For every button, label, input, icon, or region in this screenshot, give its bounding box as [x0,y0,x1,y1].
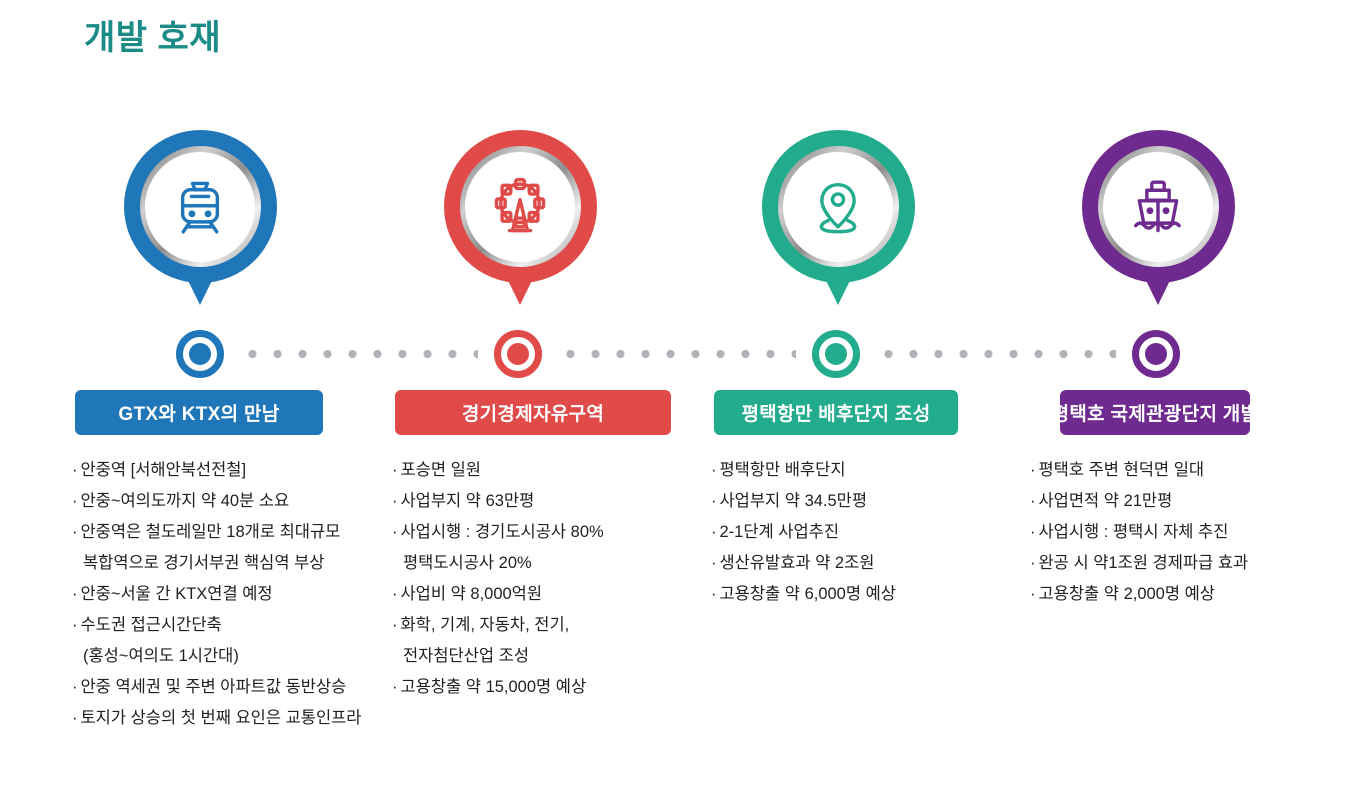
node-gtx-ktx[interactable] [176,330,224,378]
detail-list-gtx-ktx: ·안중역 [서해안북선전철]·안중~여의도까지 약 40분 소요·안중역은 철도… [72,455,402,734]
list-item: 복합역으로 경기서부권 핵심역 부상 [72,548,402,579]
bullet-dot-icon: · [392,616,398,634]
list-item-text: 평택호 주변 현덕면 일대 [1039,461,1205,479]
bullet-dot-icon: · [1030,585,1036,603]
list-item-text: 포승면 일원 [401,461,481,479]
detail-list-pyeongtaek-port: ·평택항만 배후단지·사업부지 약 34.5만평·2-1단계 사업추진·생산유발… [711,455,1041,610]
node-pyeongtaek-lake-dot [1145,343,1167,365]
list-item-text: 안중~여의도까지 약 40분 소요 [81,492,290,510]
list-item: ·고용창출 약 6,000명 예상 [711,579,1041,610]
list-item-text: 안중~서울 간 KTX연결 예정 [81,585,273,603]
bullet-dot-icon: · [711,554,717,572]
pin-circle-pyeongtaek-lake [1082,130,1235,283]
list-item-text: 수도권 접근시간단축 [81,616,222,634]
list-item: ·안중~여의도까지 약 40분 소요 [72,486,402,517]
list-item: ·수도권 접근시간단축 [72,610,402,641]
node-pyeongtaek-port[interactable] [812,330,860,378]
list-item-text: 토지가 상승의 첫 번째 요인은 교통인프라 [81,709,362,727]
pin-inner-gtx-ktx [145,152,255,262]
list-item: ·사업시행 : 평택시 자체 추진 [1030,517,1359,548]
bullet-dot-icon: · [72,678,78,696]
list-item: 전자첨단산업 조성 [392,641,722,672]
list-item: ·화학, 기계, 자동차, 전기, [392,610,722,641]
node-gtx-ktx-dot [189,343,211,365]
bullet-dot-icon: · [72,492,78,510]
bullet-dot-icon: · [1030,554,1036,572]
timeline-dotted-connector-0 [240,350,478,358]
map-pin-icon [807,176,869,238]
list-item-text: 화학, 기계, 자동차, 전기, [401,616,570,634]
ship-icon [1127,176,1189,238]
node-gyeonggi-fez[interactable] [494,330,542,378]
bullet-dot-icon: · [72,523,78,541]
category-label-pyeongtaek-port[interactable]: 평택항만 배후단지 조성 [714,390,958,435]
list-item-text: 복합역으로 경기서부권 핵심역 부상 [83,554,324,572]
list-item-text: 완공 시 약1조원 경제파급 효과 [1039,554,1249,572]
list-item: ·토지가 상승의 첫 번째 요인은 교통인프라 [72,703,402,734]
bullet-dot-icon: · [711,461,717,479]
category-label-gyeonggi-fez[interactable]: 경기경제자유구역 [395,390,671,435]
list-item: ·고용창출 약 2,000명 예상 [1030,579,1359,610]
list-item-text: 사업부지 약 34.5만평 [720,492,868,510]
list-item-text: 평택도시공사 20% [403,554,532,572]
list-item-text: 생산유발효과 약 2조원 [720,554,875,572]
infographic-page: 개발 호재 GTX와 KTX의 만남경기경제자유구역평택항만 배후단지 조성평택… [0,0,1359,812]
list-item: ·평택호 주변 현덕면 일대 [1030,455,1359,486]
list-item-text: 2-1단계 사업추진 [720,523,840,541]
list-item: ·사업비 약 8,000억원 [392,579,722,610]
ferris-wheel-icon [489,176,551,238]
list-item: ·포승면 일원 [392,455,722,486]
list-item: (홍성~여의도 1시간대) [72,641,402,672]
node-pyeongtaek-lake[interactable] [1132,330,1180,378]
category-label-pyeongtaek-lake[interactable]: 평택호 국제관광단지 개발 [1060,390,1250,435]
detail-list-gyeonggi-fez: ·포승면 일원·사업부지 약 63만평·사업시행 : 경기도시공사 80%평택도… [392,455,722,703]
list-item: ·생산유발효과 약 2조원 [711,548,1041,579]
list-item: ·사업면적 약 21만평 [1030,486,1359,517]
list-item: ·안중~서울 간 KTX연결 예정 [72,579,402,610]
page-title: 개발 호재 [84,18,221,59]
list-item-text: 고용창출 약 15,000명 예상 [401,678,587,696]
list-item-text: 사업시행 : 경기도시공사 80% [401,523,604,541]
list-item-text: 안중역 [서해안북선전철] [81,461,247,479]
bullet-dot-icon: · [392,678,398,696]
list-item: ·평택항만 배후단지 [711,455,1041,486]
bullet-dot-icon: · [72,616,78,634]
list-item-text: 안중 역세권 및 주변 아파트값 동반상승 [81,678,347,696]
list-item: ·완공 시 약1조원 경제파급 효과 [1030,548,1359,579]
bullet-dot-icon: · [72,585,78,603]
bullet-dot-icon: · [711,523,717,541]
bullet-dot-icon: · [392,523,398,541]
pin-circle-pyeongtaek-port [762,130,915,283]
list-item: ·사업부지 약 63만평 [392,486,722,517]
bullet-dot-icon: · [1030,492,1036,510]
detail-list-pyeongtaek-lake: ·평택호 주변 현덕면 일대·사업면적 약 21만평·사업시행 : 평택시 자체… [1030,455,1359,610]
bullet-dot-icon: · [392,461,398,479]
list-item: ·사업시행 : 경기도시공사 80% [392,517,722,548]
list-item-text: 평택항만 배후단지 [720,461,846,479]
bullet-dot-icon: · [711,492,717,510]
list-item-text: 고용창출 약 6,000명 예상 [720,585,896,603]
pin-inner-gyeonggi-fez [465,152,575,262]
list-item: ·사업부지 약 34.5만평 [711,486,1041,517]
list-item-text: 안중역은 철도레일만 18개로 최대규모 [81,523,341,541]
pin-wrap-pyeongtaek-port [678,130,998,310]
node-gyeonggi-fez-dot [507,343,529,365]
bullet-dot-icon: · [392,585,398,603]
list-item-text: 사업부지 약 63만평 [401,492,535,510]
timeline [0,330,1359,378]
list-item-text: 사업면적 약 21만평 [1039,492,1173,510]
category-label-gtx-ktx[interactable]: GTX와 KTX의 만남 [75,390,323,435]
train-icon [169,176,231,238]
list-item: ·고용창출 약 15,000명 예상 [392,672,722,703]
bullet-dot-icon: · [72,709,78,727]
list-item: 평택도시공사 20% [392,548,722,579]
list-item-text: (홍성~여의도 1시간대) [83,647,239,665]
pin-wrap-gyeonggi-fez [360,130,680,310]
bullet-dot-icon: · [1030,461,1036,479]
list-item-text: 사업시행 : 평택시 자체 추진 [1039,523,1229,541]
pin-circle-gtx-ktx [124,130,277,283]
list-item-text: 전자첨단산업 조성 [403,647,529,665]
node-pyeongtaek-port-dot [825,343,847,365]
bullet-dot-icon: · [711,585,717,603]
pin-wrap-gtx-ktx [40,130,360,310]
list-item: ·안중역 [서해안북선전철] [72,455,402,486]
timeline-dotted-connector-2 [876,350,1116,358]
list-item: ·2-1단계 사업추진 [711,517,1041,548]
bullet-dot-icon: · [1030,523,1036,541]
list-item: ·안중 역세권 및 주변 아파트값 동반상승 [72,672,402,703]
pin-wrap-pyeongtaek-lake [998,130,1318,310]
pin-circle-gyeonggi-fez [444,130,597,283]
pin-inner-pyeongtaek-lake [1103,152,1213,262]
list-item: ·안중역은 철도레일만 18개로 최대규모 [72,517,402,548]
list-item-text: 고용창출 약 2,000명 예상 [1039,585,1215,603]
timeline-dotted-connector-1 [558,350,796,358]
list-item-text: 사업비 약 8,000억원 [401,585,543,603]
bullet-dot-icon: · [72,461,78,479]
bullet-dot-icon: · [392,492,398,510]
pin-inner-pyeongtaek-port [783,152,893,262]
